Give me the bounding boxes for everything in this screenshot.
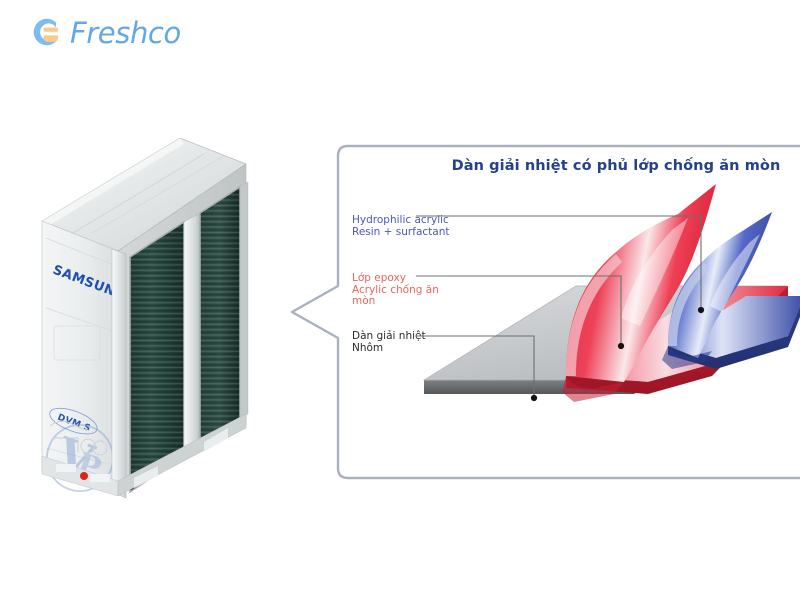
- brand-logo[interactable]: Freshco: [26, 10, 216, 54]
- product-image-samsung-dvm-s: SAMSUNG DVM S V P: [8, 126, 256, 501]
- label-aluminium-heat-exchanger: Dàn giải nhiệt Nhôm: [352, 331, 426, 354]
- freshco-e-mark-icon: [26, 13, 64, 51]
- brand-wordmark: Freshco: [70, 19, 181, 48]
- layer-stack-diagram: [416, 168, 800, 468]
- callout-panel: Dàn giải nhiệt có phủ lớp chống ăn mòn H…: [286, 138, 800, 486]
